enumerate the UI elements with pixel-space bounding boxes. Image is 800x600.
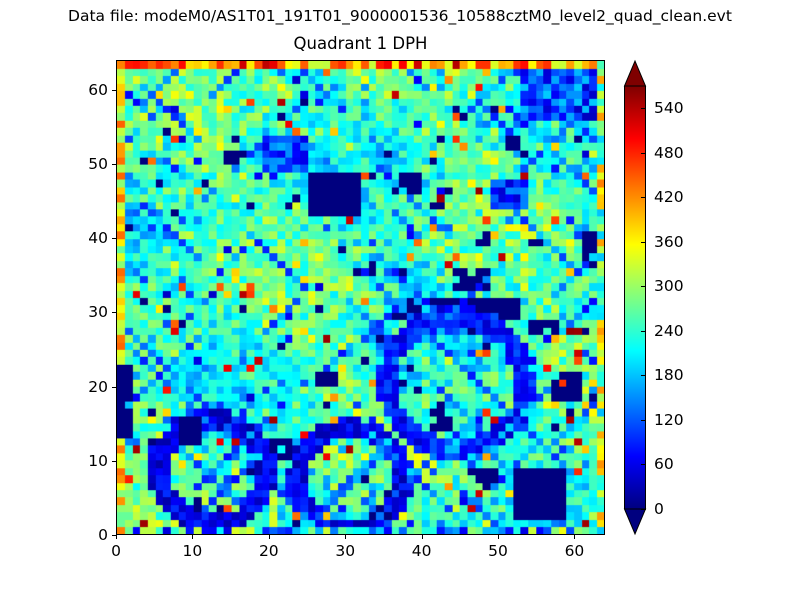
- x-tick-label: 20: [259, 542, 279, 560]
- colorbar-tick-label: 480: [654, 144, 684, 162]
- colorbar[interactable]: [624, 60, 650, 535]
- y-tick-mark: [112, 535, 116, 536]
- colorbar-tick-mark: [641, 509, 646, 510]
- y-tick-label: 20: [70, 378, 108, 396]
- x-tick-mark: [498, 535, 499, 539]
- y-tick-label: 50: [70, 155, 108, 173]
- y-tick-mark: [112, 164, 116, 165]
- x-tick-label: 30: [335, 542, 355, 560]
- colorbar-tick-mark: [641, 286, 646, 287]
- x-tick-mark: [422, 535, 423, 539]
- colorbar-tick-mark: [641, 197, 646, 198]
- colorbar-tick-mark: [641, 108, 646, 109]
- colorbar-tick-label: 540: [654, 99, 684, 117]
- x-tick-label: 60: [565, 542, 585, 560]
- colorbar-tick-label: 120: [654, 411, 684, 429]
- x-tick-mark: [192, 535, 193, 539]
- x-tick-label: 50: [488, 542, 508, 560]
- colorbar-tick-mark: [641, 153, 646, 154]
- x-tick-mark: [269, 535, 270, 539]
- colorbar-tick-label: 60: [654, 455, 674, 473]
- y-tick-mark: [112, 238, 116, 239]
- colorbar-tick-label: 420: [654, 188, 684, 206]
- colorbar-tick-mark: [641, 420, 646, 421]
- y-tick-label: 0: [70, 526, 108, 544]
- x-tick-mark: [345, 535, 346, 539]
- x-tick-label: 10: [183, 542, 203, 560]
- colorbar-tick-label: 360: [654, 233, 684, 251]
- colorbar-tick-label: 180: [654, 366, 684, 384]
- matplotlib-figure: Data file: modeM0/AS1T01_191T01_90000015…: [0, 0, 800, 600]
- data-file-suptitle: Data file: modeM0/AS1T01_191T01_90000015…: [0, 6, 800, 26]
- y-tick-mark: [112, 461, 116, 462]
- x-tick-mark: [574, 535, 575, 539]
- x-tick-mark: [116, 535, 117, 539]
- colorbar-tick-mark: [641, 464, 646, 465]
- detector-plane-histogram-image[interactable]: [117, 61, 604, 534]
- y-tick-label: 60: [70, 81, 108, 99]
- colorbar-tick-label: 240: [654, 322, 684, 340]
- x-tick-label: 0: [111, 542, 121, 560]
- colorbar-tick-label: 0: [654, 500, 664, 518]
- y-tick-mark: [112, 90, 116, 91]
- y-tick-mark: [112, 387, 116, 388]
- colorbar-tick-label: 300: [654, 277, 684, 295]
- y-tick-mark: [112, 312, 116, 313]
- heatmap-axes[interactable]: [116, 60, 605, 535]
- y-tick-label: 30: [70, 303, 108, 321]
- y-tick-label: 40: [70, 229, 108, 247]
- colorbar-gradient: [624, 60, 650, 535]
- colorbar-tick-mark: [641, 375, 646, 376]
- colorbar-tick-mark: [641, 331, 646, 332]
- x-tick-label: 40: [412, 542, 432, 560]
- plot-title: Quadrant 1 DPH: [116, 33, 605, 55]
- colorbar-tick-mark: [641, 242, 646, 243]
- y-tick-label: 10: [70, 452, 108, 470]
